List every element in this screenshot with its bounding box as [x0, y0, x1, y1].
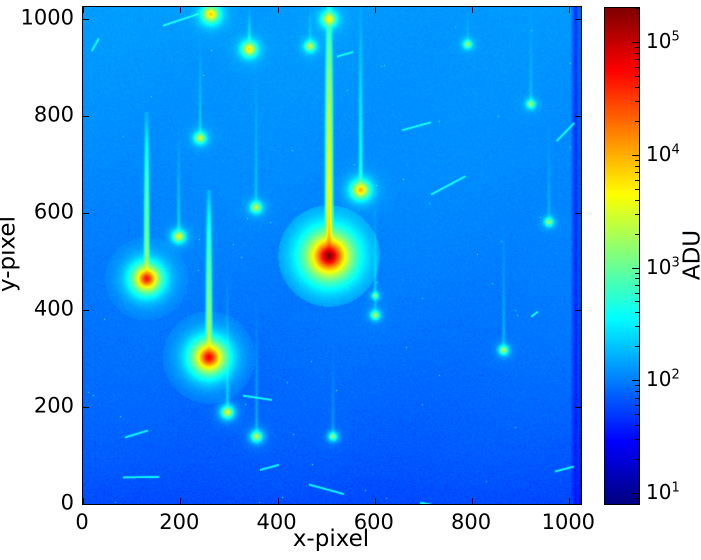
colorbar-major-tick	[632, 42, 639, 43]
colorbar-minor-tick	[635, 278, 639, 279]
colorbar-minor-tick	[635, 214, 639, 215]
colorbar-major-tick	[632, 380, 639, 381]
y-tick-label: 0	[61, 493, 74, 514]
colorbar-minor-tick	[635, 200, 639, 201]
colorbar-minor-tick	[635, 301, 639, 302]
x-tick-top	[569, 7, 570, 13]
colorbar-minor-tick	[635, 326, 639, 327]
x-tick-top	[472, 7, 473, 13]
x-tick	[472, 498, 473, 504]
colorbar-minor-tick	[635, 76, 639, 77]
y-tick-right	[575, 213, 581, 214]
colorbar-minor-tick	[635, 498, 639, 499]
y-tick-right	[575, 116, 581, 117]
y-tick-right	[575, 310, 581, 311]
colorbar-major-tick	[632, 493, 639, 494]
colorbar-minor-tick	[635, 87, 639, 88]
x-tick-label: 400	[256, 512, 296, 533]
colorbar-minor-tick	[635, 172, 639, 173]
y-tick-right	[575, 407, 581, 408]
colorbar-minor-tick	[635, 398, 639, 399]
x-tick-label: 800	[451, 512, 491, 533]
colorbar-major-tick	[632, 155, 639, 156]
colorbar-minor-tick	[635, 293, 639, 294]
colorbar-minor-tick	[635, 312, 639, 313]
x-tick-top	[180, 7, 181, 13]
colorbar-gradient	[605, 8, 639, 504]
y-tick-label: 600	[34, 201, 74, 222]
colorbar-minor-tick	[635, 53, 639, 54]
colorbar-minor-tick	[635, 160, 639, 161]
y-tick	[83, 213, 89, 214]
y-tick-label: 400	[34, 298, 74, 319]
colorbar-minor-tick	[635, 346, 639, 347]
y-tick	[83, 504, 89, 505]
colorbar-minor-tick	[635, 385, 639, 386]
colorbar-major-tick	[632, 268, 639, 269]
colorbar-minor-tick	[635, 425, 639, 426]
x-tick	[278, 498, 279, 504]
colorbar-minor-tick	[635, 439, 639, 440]
colorbar-minor-tick	[635, 285, 639, 286]
y-tick	[83, 310, 89, 311]
colorbar-tick-label: 104	[646, 144, 680, 164]
y-tick	[83, 407, 89, 408]
x-tick-top	[278, 7, 279, 13]
y-tick-label: 800	[34, 104, 74, 125]
colorbar-minor-tick	[635, 189, 639, 190]
colorbar-minor-tick	[635, 47, 639, 48]
colorbar-minor-tick	[635, 121, 639, 122]
x-tick-label: 200	[159, 512, 199, 533]
colorbar-minor-tick	[635, 59, 639, 60]
x-tick-label: 1000	[542, 512, 595, 533]
colorbar-minor-tick	[635, 234, 639, 235]
colorbar-label: ADU	[682, 230, 701, 280]
figure-canvas: 02004006008001000 02004006008001000 x-pi…	[0, 0, 701, 560]
colorbar-minor-tick	[635, 459, 639, 460]
colorbar-minor-tick	[635, 166, 639, 167]
x-tick-top	[375, 7, 376, 13]
y-tick-right	[575, 19, 581, 20]
colorbar-minor-tick	[635, 273, 639, 274]
colorbar-tick-label: 103	[646, 257, 680, 277]
x-tick	[180, 498, 181, 504]
ccd-image-heatmap	[83, 7, 581, 504]
image-axes[interactable]	[82, 6, 582, 505]
colorbar-minor-tick	[635, 67, 639, 68]
colorbar-minor-tick	[635, 8, 639, 9]
colorbar-tick-label: 102	[646, 369, 680, 389]
x-tick-label: 0	[75, 512, 88, 533]
colorbar-tick-label: 101	[646, 482, 680, 502]
y-tick-right	[575, 504, 581, 505]
x-tick-top	[83, 7, 84, 13]
colorbar-minor-tick	[635, 180, 639, 181]
y-tick-label: 200	[34, 395, 74, 416]
colorbar[interactable]	[604, 7, 640, 505]
colorbar-tick-label: 105	[646, 31, 680, 51]
x-axis-label: x-pixel	[293, 528, 369, 551]
colorbar-minor-tick	[635, 391, 639, 392]
y-axis-label: y-pixel	[0, 216, 20, 292]
y-tick	[83, 116, 89, 117]
colorbar-minor-tick	[635, 504, 639, 505]
y-tick-label: 1000	[21, 7, 74, 28]
colorbar-minor-tick	[635, 405, 639, 406]
x-tick	[569, 498, 570, 504]
colorbar-minor-tick	[635, 414, 639, 415]
colorbar-minor-tick	[635, 101, 639, 102]
x-tick	[375, 498, 376, 504]
y-tick	[83, 19, 89, 20]
